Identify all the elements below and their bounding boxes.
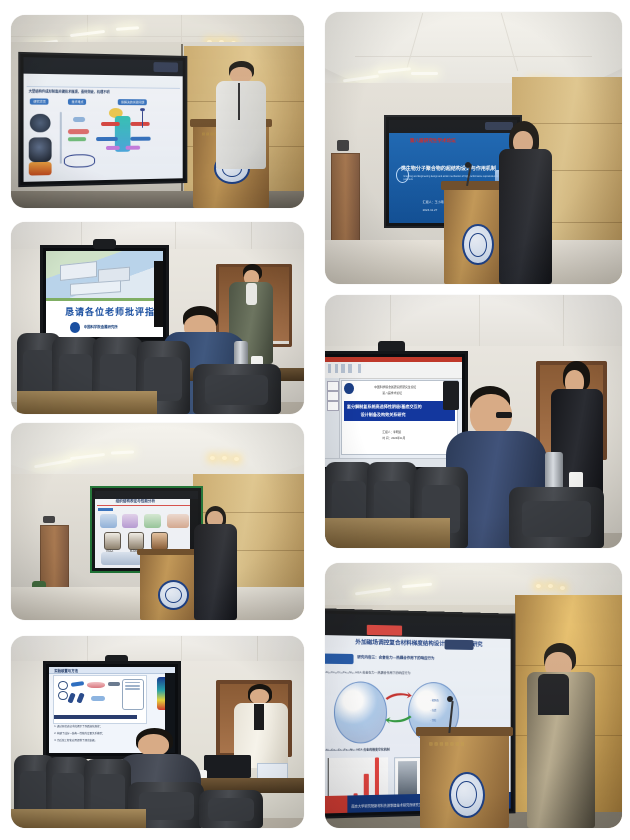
slide-title-line-1: 氢分解制氢系统高选择性阴极/基底交互的 <box>347 404 422 410</box>
slide-tag: 研究背景 <box>30 98 49 104</box>
presenter <box>210 61 280 169</box>
slide-date: 2024.11.27 <box>423 208 438 212</box>
photo-collage: 大型结构件成形制造关键技术瓶颈，亟待突破，机理不明 研究背景 技术难点 拟解决的… <box>0 0 630 840</box>
slide-formula-line: Al₂₀Co₂₀Cr₂₀Fe₂₀Ni₂₀ HEA 合金在力—热耦合作用下的响应行… <box>326 669 411 674</box>
slide-conclusion-3: 3. 为后续工程化应用提供了理论依据。 <box>54 738 97 742</box>
photo-top-right[interactable]: 第八届研究生学术论坛 类生物分子聚合物的超结构设计与作用机制 Graphing … <box>325 12 622 284</box>
slide-banner: 第八届研究生学术论坛 <box>410 138 456 144</box>
arrow-forward-icon <box>385 688 412 706</box>
institute-emblem <box>158 580 189 610</box>
slide-header-2: 第八届学术论坛 <box>382 391 402 395</box>
photo-lower-left[interactable]: 组织结构表征与性能分析 样品A 样品B 样品C <box>11 423 304 620</box>
slide-tag: 拟解决的关键问题 <box>118 99 147 105</box>
slide-presenter: 汇报人：李明远 <box>382 430 401 434</box>
slide-date: 时 间：2024年11月 <box>382 436 405 440</box>
network-sphere-left <box>334 681 387 743</box>
presenter <box>527 643 604 829</box>
photo-top-left[interactable]: 大型结构件成形制造关键技术瓶颈，亟待突破，机理不明 研究背景 技术难点 拟解决的… <box>11 15 304 208</box>
photo-mid-right[interactable]: 中国科学院金属研究所研究生论坛 第八届学术论坛 氢分解制氢系统高选择性阴极/基底… <box>325 295 622 548</box>
slide-title-line-2: 设计制备及构效关系研究 <box>361 412 406 418</box>
slide-headline: 大型结构件成形制造关键技术瓶颈，亟待突破，机理不明 <box>28 88 109 94</box>
slide-title: 类生物分子聚合物的超结构设计与作用机制 <box>401 165 496 172</box>
presenter <box>193 506 246 620</box>
lectern: ▨▨▨▨▨▨▨ <box>420 727 509 828</box>
slide-presenter: 汇报人：王小雨 <box>423 200 444 204</box>
slide-title: 组织结构表征与性能分析 <box>116 499 156 504</box>
slide-conclusion-1: 1. 通过原位表征手段揭示了界面演化规律； <box>54 724 102 728</box>
photo-bottom-right[interactable]: 外加磁场调控复合材料梯度结构设计制备及性能研究 研究内容三：合金在力—热耦合作用… <box>325 563 622 828</box>
photo-mid-left[interactable]: 恳请各位老师批评指正 中国科学院金属研究所 <box>11 222 304 414</box>
slide-header-1: 中国科学院金属研究所研究生论坛 <box>374 385 416 389</box>
slide-institute: 中国科学院金属研究所 <box>84 324 118 329</box>
institute-emblem <box>449 772 485 818</box>
slide-title: 实验装置与方法 <box>54 668 78 673</box>
presentation-screen: 恳请各位老师批评指正 中国科学院金属研究所 <box>40 245 169 343</box>
slide-chart-caption: Al₂₀Co₂₀Cr₂₀Fe₂₀Ni₂₀ HEA 合金的相变空化机制 <box>326 747 390 752</box>
slide-tag: 技术难点 <box>68 98 86 104</box>
slide-conclusion-2: 2. 构建了成分—结构—性能的定量关系模型； <box>54 731 104 735</box>
arrow-back-icon <box>385 709 412 727</box>
presenter <box>497 121 562 284</box>
slide-subtitle: 研究内容三：合金在力—热耦合作用下的响应行为 <box>357 655 434 661</box>
presentation-screen: 大型结构件成形制造关键技术瓶颈，亟待突破，机理不明 研究背景 技术难点 拟解决的… <box>18 51 187 187</box>
slide-closing-text: 恳请各位老师批评指正 <box>65 305 163 318</box>
photo-bottom-left[interactable]: 实验装置与方法 1. 通过原位表征手段揭示了界面演 <box>11 636 304 828</box>
institute-emblem <box>462 224 493 265</box>
